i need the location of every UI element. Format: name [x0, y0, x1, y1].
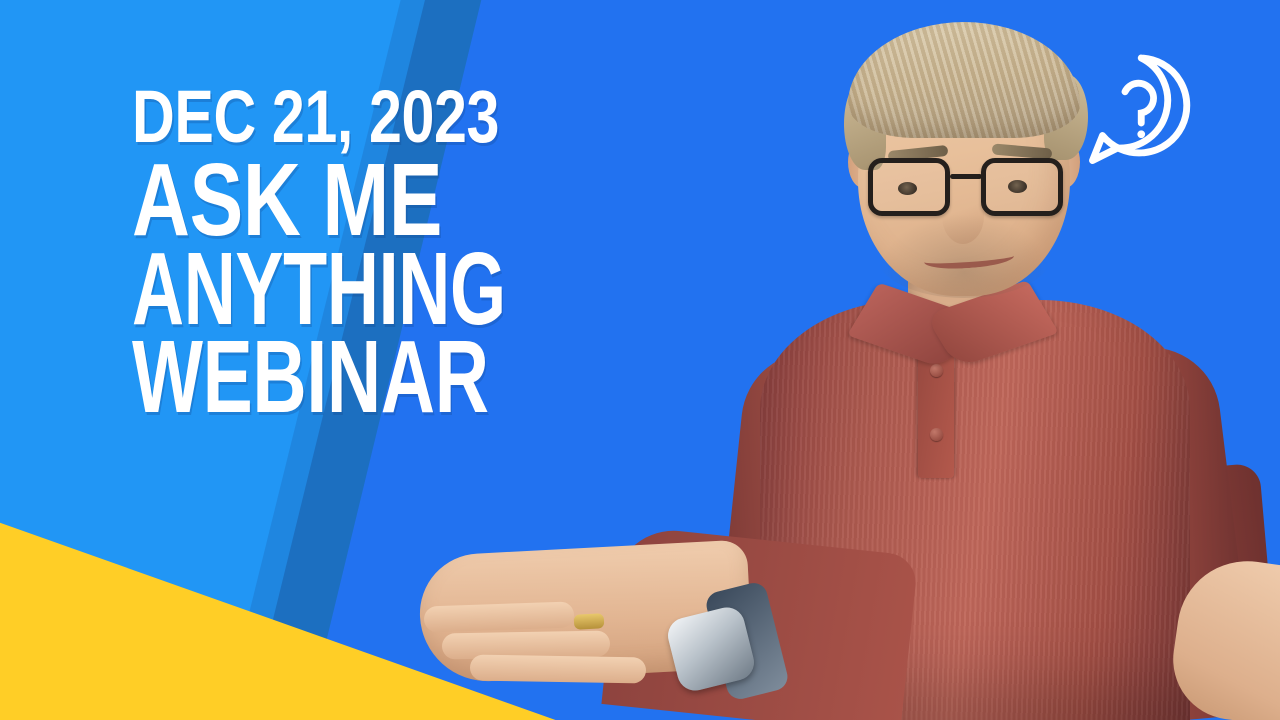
video-thumbnail: DEC 21, 2023 ASK ME ANYTHING WEBINAR: [0, 0, 1280, 720]
shirt-button-bottom: [930, 428, 943, 441]
question-speech-bubble-icon: [1075, 48, 1200, 173]
webinar-date: DEC 21, 2023: [132, 84, 532, 149]
headline-block: DEC 21, 2023 ASK ME ANYTHING WEBINAR: [132, 84, 632, 423]
title-line-3: WEBINAR: [132, 332, 497, 423]
wedding-ring: [574, 613, 605, 630]
hair: [848, 22, 1080, 138]
shirt-button-top: [930, 364, 943, 377]
glasses-bridge: [950, 174, 982, 179]
finger-index: [424, 601, 575, 632]
lens-left: [868, 158, 950, 216]
nose: [942, 188, 984, 244]
finger-ring: [470, 654, 646, 683]
lens-right: [981, 158, 1063, 216]
